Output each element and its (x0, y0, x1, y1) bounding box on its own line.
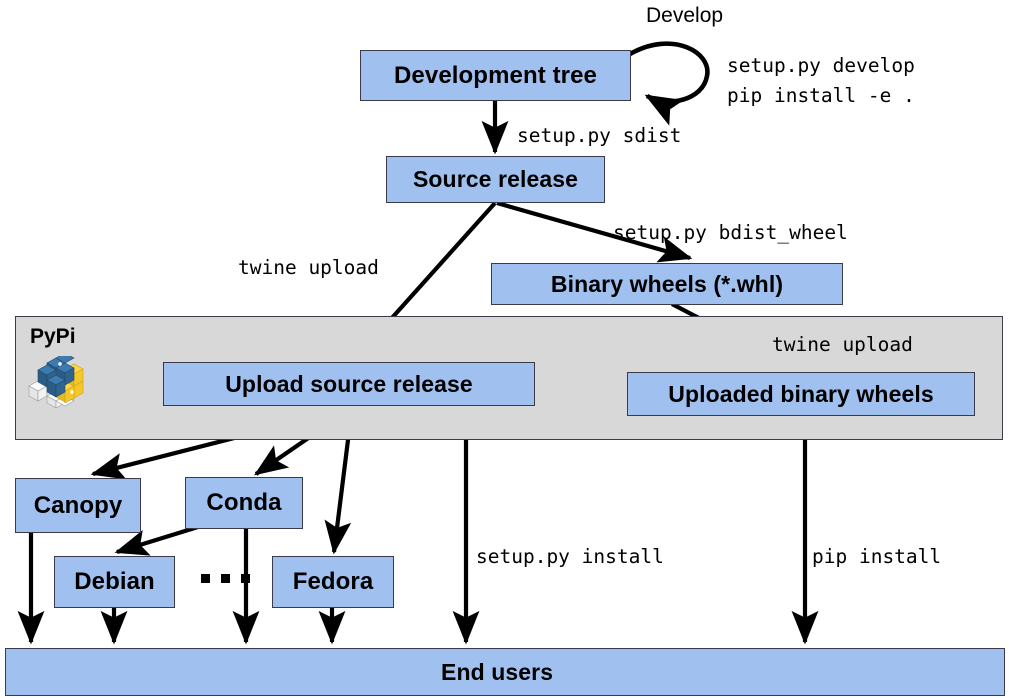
label-develop-command-1: setup.py develop (727, 53, 915, 79)
pypi-group-label: PyPi (30, 325, 76, 349)
node-canopy[interactable]: Canopy (15, 478, 141, 533)
node-binary-wheels[interactable]: Binary wheels (*.whl) (491, 263, 843, 305)
node-development-tree[interactable]: Development tree (360, 50, 631, 101)
node-fedora[interactable]: Fedora (272, 556, 394, 608)
pypi-logo-eye-bottom (70, 390, 73, 393)
node-end-users[interactable]: End users (5, 648, 1005, 696)
ellipsis-more-distros (201, 574, 250, 583)
label-setup-py-install: setup.py install (476, 544, 664, 570)
node-source-release[interactable]: Source release (386, 156, 605, 203)
pypi-logo-svg (25, 356, 87, 408)
label-develop-command-2: pip install -e . (727, 83, 915, 109)
label-setup-py-sdist: setup.py sdist (517, 123, 681, 149)
node-uploaded-binary-wheels[interactable]: Uploaded binary wheels (627, 372, 975, 416)
node-debian[interactable]: Debian (54, 556, 175, 608)
node-upload-source-release[interactable]: Upload source release (163, 362, 535, 406)
diagram-canvas: PyPi (0, 0, 1009, 698)
label-pip-install: pip install (812, 544, 941, 570)
label-twine-upload-source: twine upload (238, 255, 379, 281)
label-twine-upload-wheels: twine upload (772, 332, 913, 358)
label-develop: Develop (646, 4, 723, 28)
ellipsis-dot-3 (241, 574, 250, 583)
pypi-python-cubes-logo (25, 356, 87, 408)
node-conda[interactable]: Conda (185, 477, 303, 529)
label-setup-py-bdist-wheel: setup.py bdist_wheel (613, 220, 848, 246)
ellipsis-dot-1 (201, 574, 210, 583)
edge-develop-selfloop (630, 44, 707, 102)
ellipsis-dot-2 (221, 574, 230, 583)
pypi-logo-eye-top (58, 362, 61, 365)
